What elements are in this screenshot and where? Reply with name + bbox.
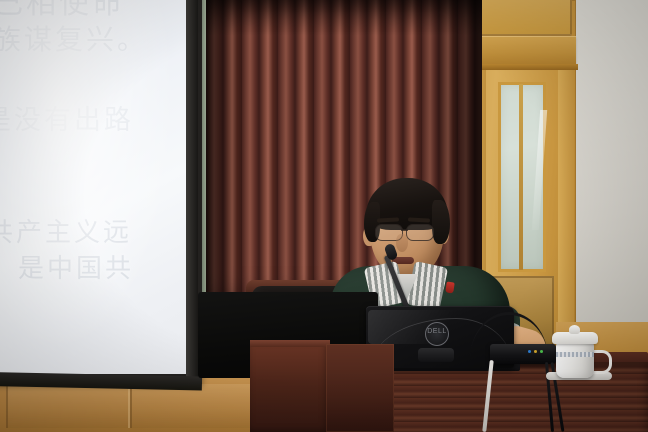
slide-text-line-3: 族是没有出路 [0,98,134,137]
lectern-front-left-edge [250,340,330,347]
slide-text-line-2: 民族谋复兴。 [0,18,148,58]
microphone-base [418,348,454,362]
glasses-bridge [401,229,408,231]
desk-control-unit[interactable] [490,344,556,364]
speaker-nose [396,234,408,252]
status-led-activity-icon [534,350,537,353]
teacup-pattern-band [556,352,594,357]
glasses-lens-right [406,224,434,241]
slide-text-line-1: 与己相使命 [0,0,125,22]
door-stile-right [558,70,574,352]
lidded-teacup[interactable] [556,342,594,378]
slide-text-line-5: 想，是中国共 [0,248,134,285]
status-led-link-icon [540,350,543,353]
slide-text-line-4: ，共产主义远 [0,212,132,249]
speaker-hair-side-right [432,200,450,244]
status-led-power-icon [528,350,531,353]
door-header-panel [478,0,572,36]
projection-screen-surface: 与己相使命 民族谋复兴。 族是没有出路 ，共产主义远 想，是中国共 [0,0,186,374]
projection-screen-edge [186,0,198,382]
wainscot-section [130,384,252,428]
dell-logo-text: DELL [426,328,448,335]
wainscot-section [6,384,130,428]
lectern-front-left [250,340,330,432]
door-lintel-lip [466,64,578,70]
teacup-lid-knob[interactable] [569,325,580,334]
door-lintel [468,36,576,66]
curtain-shadow-top [206,0,482,36]
photo-scene: 与己相使命 民族谋复兴。 族是没有出路 ，共产主义远 想，是中国共 [0,0,648,432]
dell-logo-icon: DELL [425,322,449,346]
curtain-shadow-left [206,0,246,322]
lectern-front-face [326,344,394,432]
